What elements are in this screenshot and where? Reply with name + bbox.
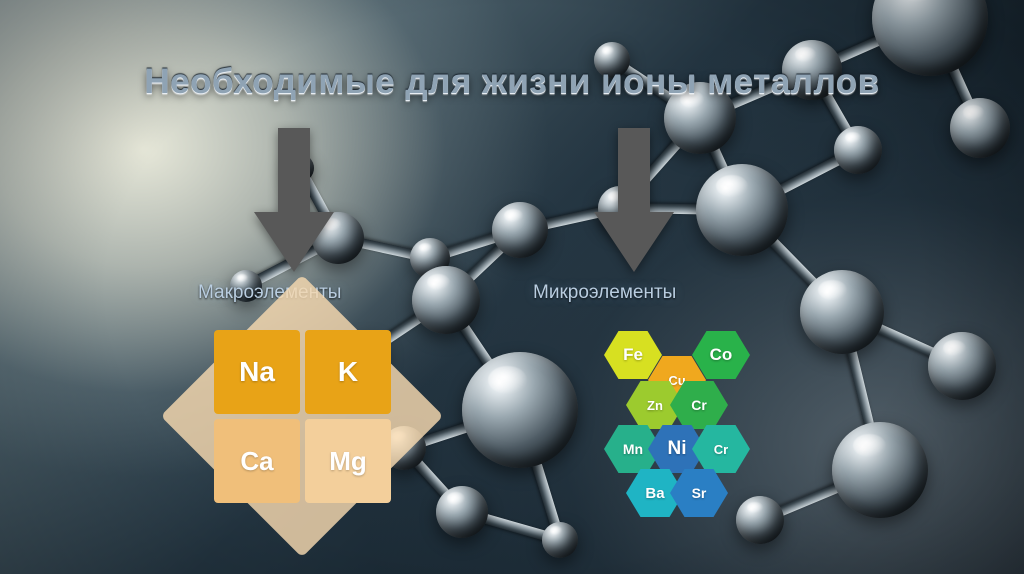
macro-element-grid: NaKCaMg <box>214 330 391 503</box>
macro-element-cell[interactable]: Mg <box>305 419 391 503</box>
down-arrow-icon-left <box>252 128 336 274</box>
down-arrow-icon-right <box>592 128 676 274</box>
microelements-group: FeCuCoZnCrMnNiCrBaSr <box>604 330 784 520</box>
macroelements-group: NaKCaMg <box>184 316 420 534</box>
macro-element-cell[interactable]: Na <box>214 330 300 414</box>
micro-element-hex[interactable]: Cr <box>692 424 750 474</box>
macro-element-cell[interactable]: K <box>305 330 391 414</box>
caption-micro: Микроэлементы <box>533 282 676 304</box>
page-title: Необходимые для жизни ионы металлов <box>0 62 1024 102</box>
micro-element-hex[interactable]: Sr <box>670 468 728 518</box>
macro-element-cell[interactable]: Ca <box>214 419 300 503</box>
presentation-slide: Необходимые для жизни ионы металлов Макр… <box>0 0 1024 574</box>
